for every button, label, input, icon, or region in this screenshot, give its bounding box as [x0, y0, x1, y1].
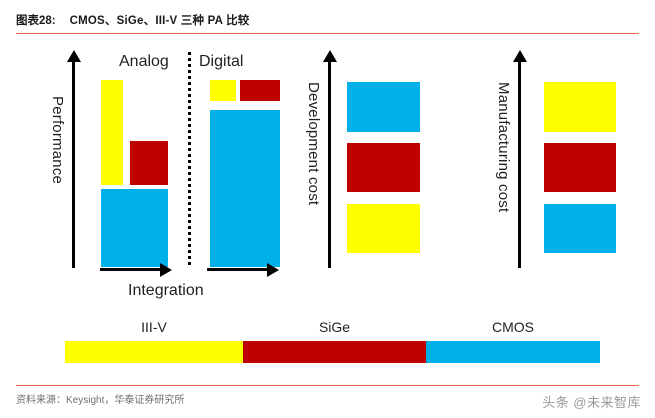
bar-analog-iii-v: [101, 80, 123, 185]
bar-manufacturing-cmos: [544, 204, 616, 253]
bar-analog-sige: [130, 141, 168, 185]
bar-manufacturing-iii-v: [544, 82, 616, 132]
legend-label-sige: SiGe: [243, 319, 426, 335]
performance-y-axis: [72, 60, 75, 268]
figure-title-text: CMOS、SiGe、III-V 三种 PA 比较: [56, 15, 250, 27]
digital-integration-arrow: [207, 268, 269, 271]
bar-digital-iii-v: [210, 80, 236, 101]
figure-number: 图表28:: [16, 15, 56, 27]
analog-integration-arrow: [100, 268, 162, 271]
performance-axis-label: Performance: [49, 96, 66, 184]
figure-header: 图表28:CMOS、SiGe、III-V 三种 PA 比较: [16, 14, 639, 36]
bar-manufacturing-sige: [544, 143, 616, 192]
legend-label-iii-v: III-V: [65, 319, 243, 335]
legend-swatch-iii-v: [65, 341, 243, 363]
manufacturing-axis-label: Manufacturing cost: [495, 82, 512, 212]
footer-divider: [16, 385, 639, 386]
page-title: 图表28:CMOS、SiGe、III-V 三种 PA 比较: [16, 14, 639, 28]
bar-digital-sige: [240, 80, 280, 101]
digital-column-label: Digital: [199, 53, 243, 71]
bar-development-sige: [347, 143, 420, 192]
manufacturing-y-axis: [518, 60, 521, 268]
bar-development-cmos: [347, 82, 420, 132]
header-divider: [16, 33, 639, 34]
integration-axis-label: Integration: [128, 282, 204, 300]
watermark: 头条 @未来智库: [542, 392, 641, 411]
legend-swatch-sige: [243, 341, 426, 363]
legend-label-cmos: CMOS: [426, 319, 600, 335]
bar-analog-cmos: [101, 189, 168, 267]
bar-development-iii-v: [347, 204, 420, 253]
development-y-axis: [328, 60, 331, 268]
legend-swatch-cmos: [426, 341, 600, 363]
analog-column-label: Analog: [119, 53, 169, 71]
bar-digital-cmos: [210, 110, 280, 267]
analog-digital-divider: [188, 52, 191, 268]
development-axis-label: Development cost: [305, 82, 322, 205]
source-note: 资料来源：Keysight，华泰证券研究所: [16, 391, 184, 406]
legend: III-V SiGe CMOS: [65, 341, 600, 363]
